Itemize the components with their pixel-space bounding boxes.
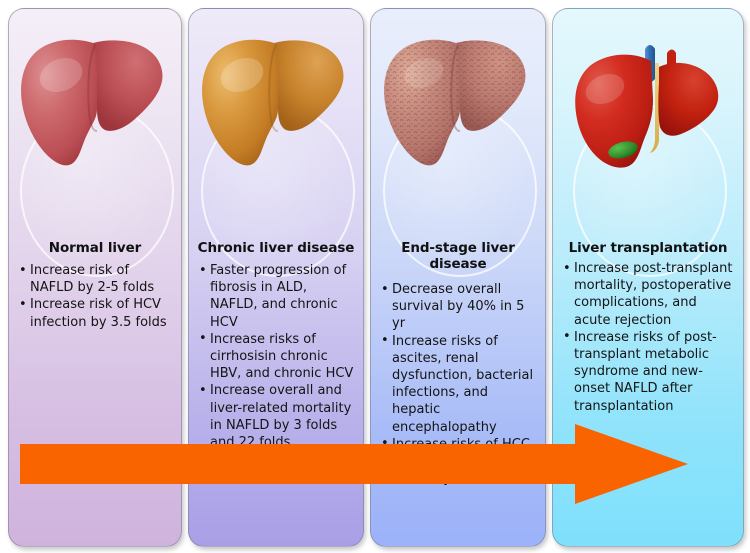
list-item: Decrease overall survival by 40% in 5 yr bbox=[381, 281, 537, 333]
cirrhotic-liver-illustration bbox=[371, 27, 545, 222]
panel-heading: Chronic liver disease bbox=[189, 240, 363, 256]
list-item: Increase risks of HCC and HCC-related mo… bbox=[381, 436, 537, 488]
panel-bullet-list: Decrease overall survival by 40% in 5 yr… bbox=[381, 281, 537, 487]
list-item: Faster progression of fibrosis in ALD, N… bbox=[199, 262, 355, 331]
transplant-liver-illustration bbox=[553, 27, 743, 222]
list-item: Increase risks of ascites, renal dysfunc… bbox=[381, 333, 537, 436]
list-item: Increase post-transplant mortality, post… bbox=[563, 260, 735, 329]
fatty-liver-illustration bbox=[189, 27, 363, 222]
panel-end-stage-liver-disease[interactable]: End-stage liver disease Decrease overall… bbox=[370, 8, 546, 547]
panel-bullet-list: Increase risk of NAFLD by 2-5 folds Incr… bbox=[19, 262, 173, 331]
list-item: Increase overall and liver-related morta… bbox=[199, 382, 355, 451]
panel-bullet-list: Faster progression of fibrosis in ALD, N… bbox=[199, 262, 355, 451]
diagram-canvas: Normal liver Increase risk of NAFLD by 2… bbox=[0, 0, 750, 553]
panel-chronic-liver-disease[interactable]: Chronic liver disease Faster progression… bbox=[188, 8, 364, 547]
panel-normal-liver[interactable]: Normal liver Increase risk of NAFLD by 2… bbox=[8, 8, 182, 547]
panel-bullet-list: Increase post-transplant mortality, post… bbox=[563, 260, 735, 415]
normal-liver-illustration bbox=[9, 27, 181, 222]
panel-liver-transplantation[interactable]: Liver transplantation Increase post-tran… bbox=[552, 8, 744, 547]
list-item: Increase risk of HCV infection by 3.5 fo… bbox=[19, 296, 173, 330]
list-item: Increase risk of NAFLD by 2-5 folds bbox=[19, 262, 173, 296]
panel-heading: End-stage liver disease bbox=[371, 240, 545, 272]
panel-heading: Normal liver bbox=[9, 240, 181, 256]
list-item: Increase risks of post-transplant metabo… bbox=[563, 329, 735, 415]
panel-heading: Liver transplantation bbox=[553, 240, 743, 256]
list-item: Increase risks of cirrhosisin chronic HB… bbox=[199, 331, 355, 383]
